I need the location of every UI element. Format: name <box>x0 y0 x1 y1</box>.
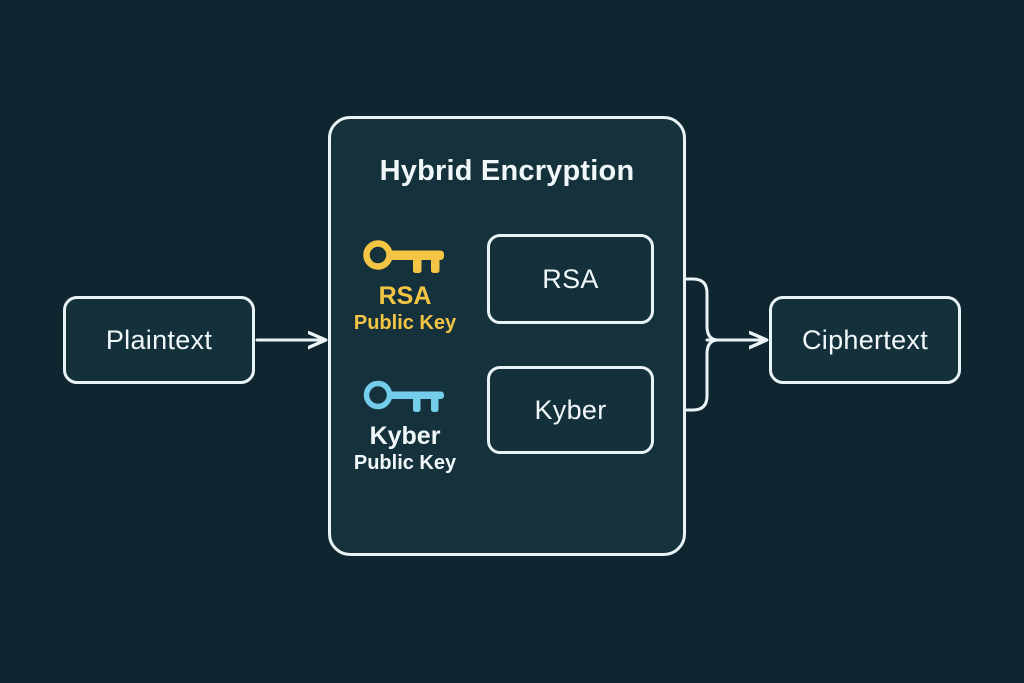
diagram-canvas: Hybrid Encryption Plaintext Ciphertext R… <box>0 0 1024 683</box>
plaintext-node[interactable]: Plaintext <box>63 296 255 384</box>
plaintext-label: Plaintext <box>106 327 212 354</box>
rsa-public-key-group: RSA Public Key <box>330 238 480 335</box>
kyber-key-name: Kyber <box>330 422 480 451</box>
key-icon <box>361 238 449 278</box>
key-icon <box>361 378 449 418</box>
kyber-public-key-group: Kyber Public Key <box>330 378 480 475</box>
rsa-algorithm-node[interactable]: RSA <box>487 234 654 324</box>
kyber-algorithm-label: Kyber <box>534 397 606 424</box>
kyber-key-subtitle: Public Key <box>330 451 480 475</box>
rsa-algorithm-label: RSA <box>542 266 598 293</box>
kyber-algorithm-node[interactable]: Kyber <box>487 366 654 454</box>
hybrid-encryption-title: Hybrid Encryption <box>331 155 683 188</box>
ciphertext-node[interactable]: Ciphertext <box>769 296 961 384</box>
hybrid-encryption-container: Hybrid Encryption <box>328 116 686 556</box>
ciphertext-label: Ciphertext <box>802 327 928 354</box>
rsa-key-subtitle: Public Key <box>330 311 480 335</box>
rsa-key-name: RSA <box>330 282 480 311</box>
